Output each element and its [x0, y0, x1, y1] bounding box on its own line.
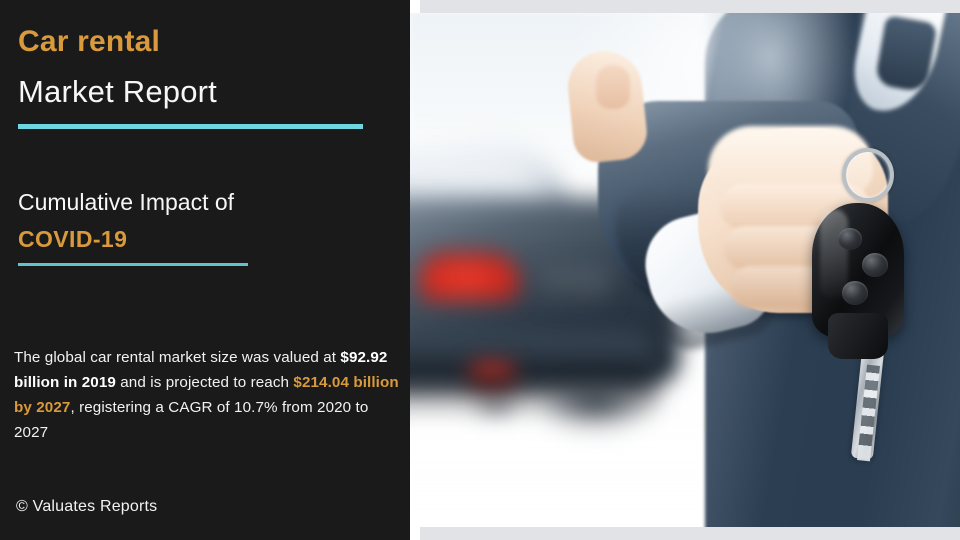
page-title-primary: Car rental — [18, 25, 160, 59]
body-segment-lead: The global car rental market size was va… — [14, 349, 340, 366]
frame-strip-top — [420, 0, 960, 13]
body-copy: The global car rental market size was va… — [14, 345, 404, 445]
key-fob-button-lock — [838, 228, 862, 250]
key-fob-button-trunk — [842, 281, 868, 305]
subtitle-line-one: Cumulative Impact of — [18, 189, 234, 216]
footer-credit: © Valuates Reports — [16, 498, 157, 516]
car-key-fob-neck — [828, 313, 888, 359]
page-title-secondary: Market Report — [18, 74, 217, 110]
text-panel: Car rental Market Report Cumulative Impa… — [0, 0, 410, 540]
subtitle-divider — [18, 263, 248, 266]
photo-ground-glow — [410, 418, 730, 527]
background-car-exhaust — [470, 396, 522, 418]
subtitle-line-two: COVID-19 — [18, 226, 127, 253]
hand-thumbnail — [596, 65, 630, 109]
background-car-licence-plate — [540, 268, 610, 302]
key-ring-icon — [842, 148, 894, 202]
photo-frame — [410, 0, 960, 540]
report-banner: Car rental Market Report Cumulative Impa… — [0, 0, 960, 540]
background-car-taillight-left — [420, 253, 520, 301]
car-key-handover-photo — [410, 13, 960, 527]
frame-strip-bottom — [420, 527, 960, 540]
body-segment-mid: and is projected to reach — [116, 374, 293, 391]
key-fob-button-unlock — [862, 253, 888, 277]
title-divider — [18, 124, 363, 129]
